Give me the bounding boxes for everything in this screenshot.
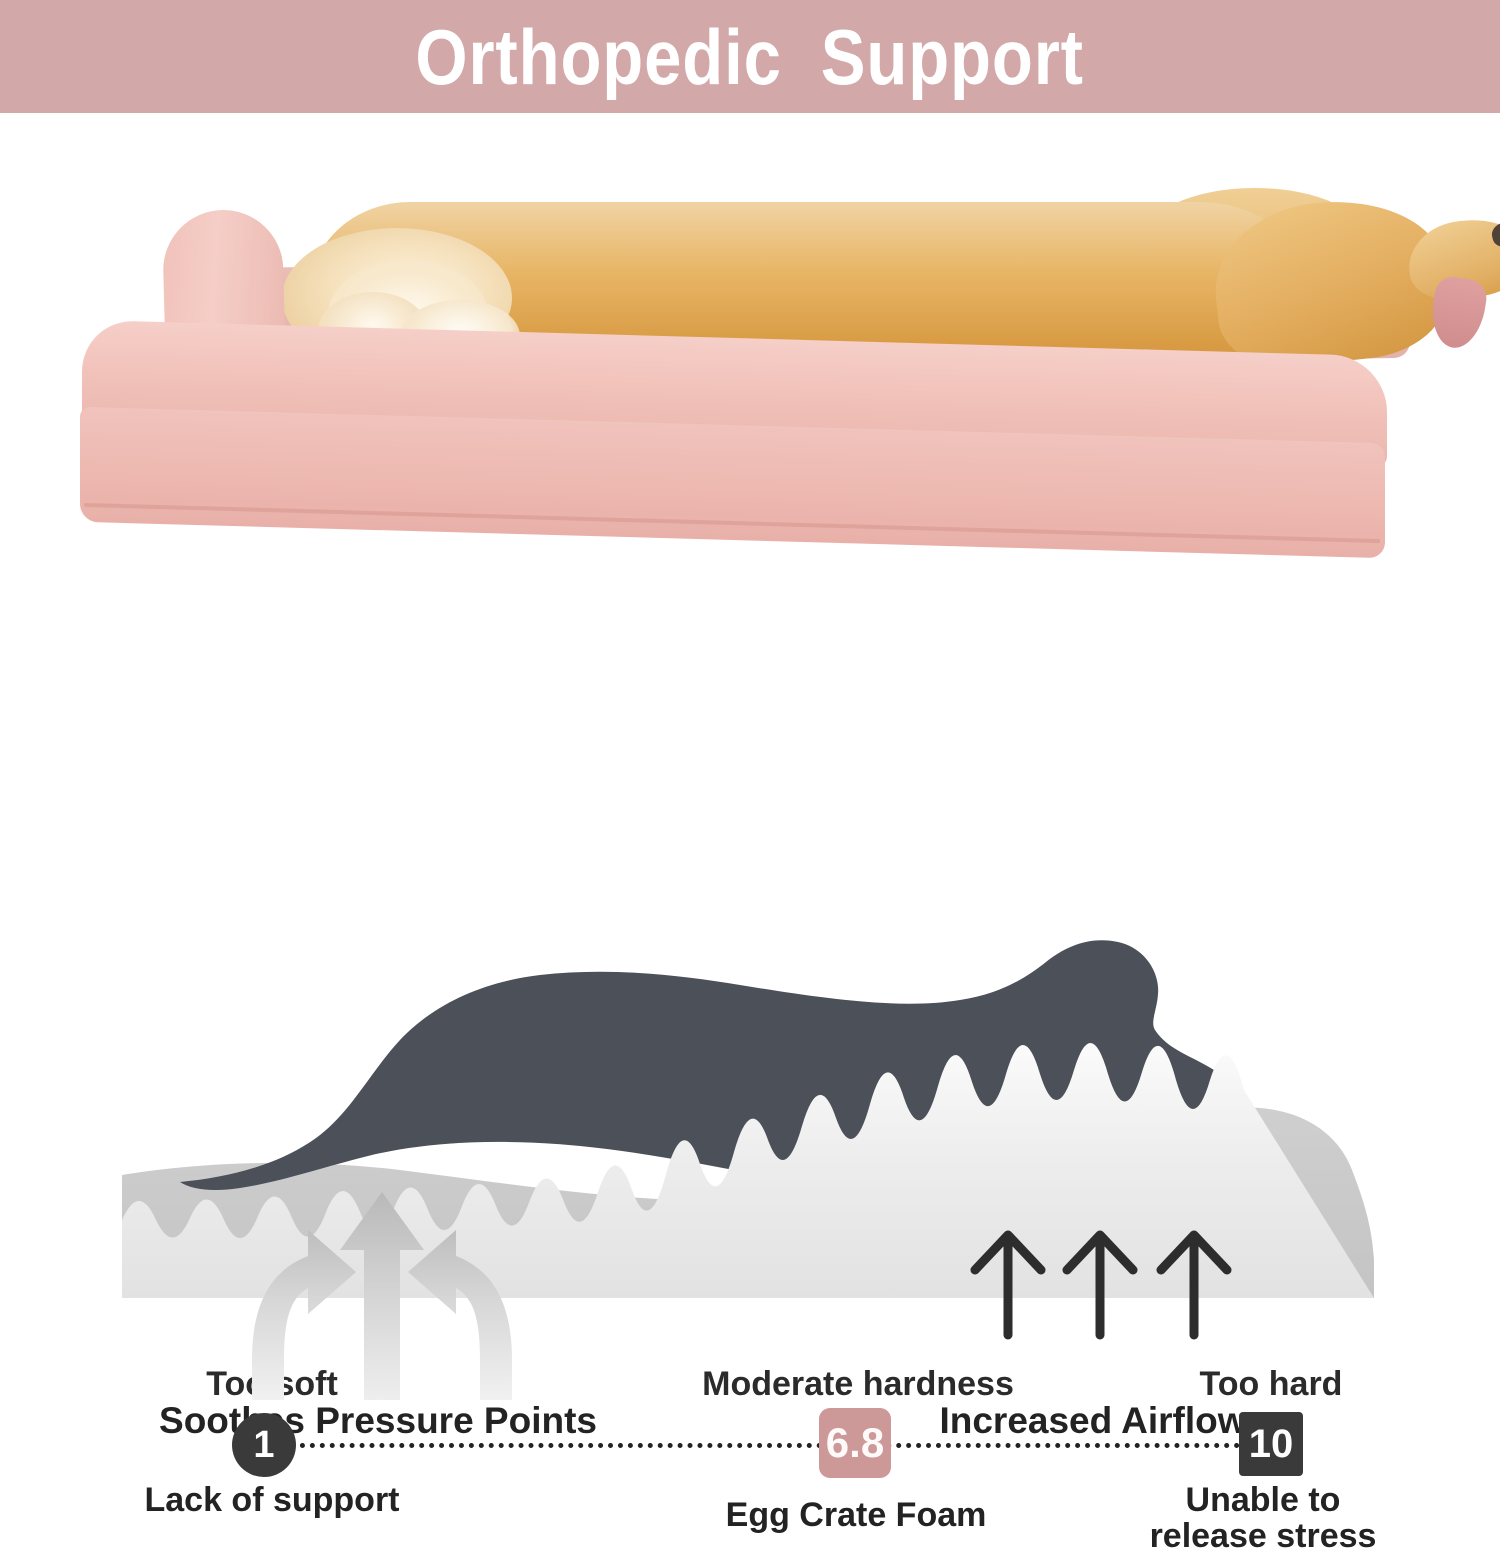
dog-tongue — [1427, 274, 1489, 351]
hardness-mid-bottom-label: Egg Crate Foam — [726, 1498, 987, 1534]
foam-diagram-illustration — [0, 930, 1500, 1400]
hardness-scale: Too soft 1 Lack of support Moderate hard… — [0, 660, 1500, 920]
page-title: Orthopedic Support — [416, 18, 1084, 96]
caption-soothes-pressure-points: Soothes Pressure Points — [159, 1400, 597, 1442]
hardness-high-bottom-label: Unable to release stress — [1150, 1483, 1377, 1554]
hardness-high-bottom-line2: release stress — [1150, 1517, 1377, 1555]
hardness-low-bottom-label: Lack of support — [144, 1483, 399, 1519]
hardness-scale-dotted-line — [290, 1443, 1250, 1448]
hardness-high-marker: 10 — [1239, 1412, 1303, 1476]
foam-diagram — [0, 930, 1500, 1400]
header-banner: Orthopedic Support — [0, 0, 1500, 113]
hardness-mid-marker: 6.8 — [819, 1408, 891, 1478]
hardness-low-marker: 1 — [232, 1413, 296, 1477]
product-photo — [60, 150, 1460, 650]
hardness-high-bottom-line1: Unable to — [1186, 1481, 1341, 1519]
caption-increased-airflow: Increased Airflow — [939, 1400, 1246, 1442]
